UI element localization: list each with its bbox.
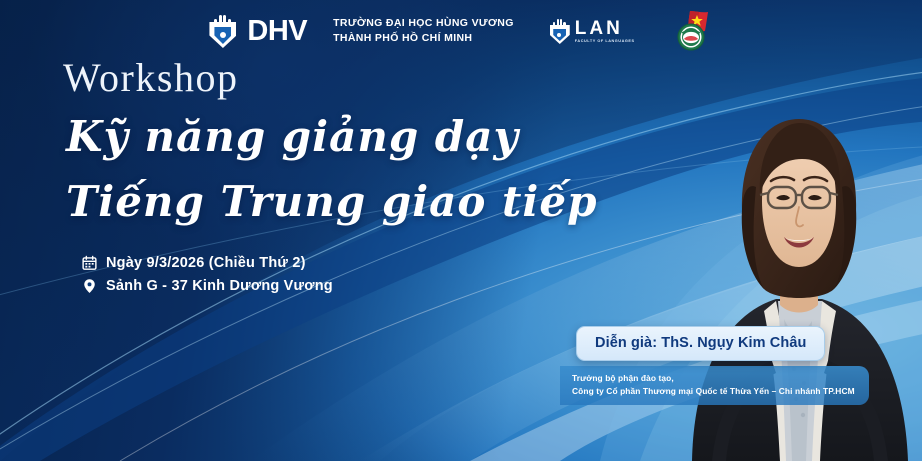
speaker-credential-line-2: Công ty Cổ phần Thương mại Quốc tế Thừa …: [572, 385, 855, 398]
speaker-credentials-banner: Trưởng bộ phận đào tạo, Công ty Cổ phần …: [560, 366, 869, 405]
dhv-shield-torch-icon: [209, 14, 236, 48]
detail-location-text: Sảnh G - 37 Kinh Dương Vương: [106, 278, 333, 294]
speaker-credential-line-1: Trưởng bộ phận đào tạo,: [572, 372, 855, 385]
title-line-1: Kỹ năng giảng dạy: [66, 112, 519, 161]
university-name-line1: TRƯỜNG ĐẠI HỌC HÙNG VƯƠNG: [333, 16, 514, 31]
speaker-name-badge: Diễn già: ThS. Ngụy Kim Châu: [576, 326, 825, 361]
eyebrow-workshop: Workshop: [63, 58, 238, 98]
detail-date-text: Ngày 9/3/2026 (Chiều Thứ 2): [106, 255, 306, 271]
detail-location-row: Sảnh G - 37 Kinh Dương Vương: [82, 278, 333, 294]
lan-subtitle: FACULTY OF LANGUAGES: [575, 40, 635, 44]
location-pin-icon: [82, 278, 97, 294]
detail-date-row: Ngày 9/3/2026 (Chiều Thứ 2): [82, 255, 333, 271]
calendar-icon: [82, 255, 97, 271]
lan-wordmark: LAN: [575, 19, 635, 38]
lan-shield-torch-icon: [550, 18, 570, 44]
title-line-2: Tiếng Trung giao tiếp: [66, 177, 597, 226]
header-logo-bar: DHV TRƯỜNG ĐẠI HỌC HÙNG VƯƠNG THÀNH PHỐ …: [0, 9, 922, 53]
event-banner: DHV TRƯỜNG ĐẠI HỌC HÙNG VƯƠNG THÀNH PHỐ …: [0, 0, 922, 461]
speaker-name-text: Diễn già: ThS. Ngụy Kim Châu: [595, 335, 806, 351]
lan-faculty-logo-group: LAN FACULTY OF LANGUAGES: [550, 18, 635, 44]
university-name: TRƯỜNG ĐẠI HỌC HÙNG VƯƠNG THÀNH PHỐ HỒ C…: [333, 16, 514, 46]
dhv-logo-group: DHV TRƯỜNG ĐẠI HỌC HÙNG VƯƠNG THÀNH PHỐ …: [209, 14, 513, 48]
university-name-line2: THÀNH PHỐ HỒ CHÍ MINH: [333, 31, 514, 46]
youth-union-emblem-icon: [669, 9, 713, 53]
event-details: Ngày 9/3/2026 (Chiều Thứ 2) Sảnh G - 37 …: [82, 255, 333, 301]
dhv-wordmark: DHV: [247, 17, 307, 46]
